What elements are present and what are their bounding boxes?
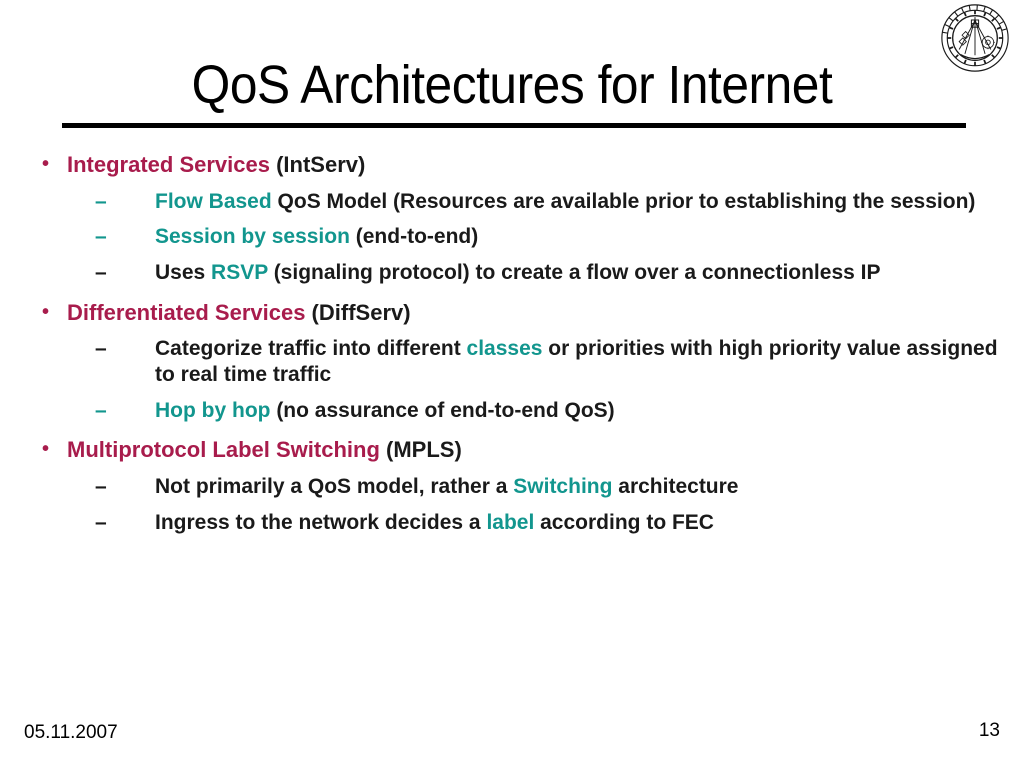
list-item: • Multiprotocol Label Switching (MPLS) — [0, 437, 1024, 464]
page-title: QoS Architectures for Internet — [41, 58, 983, 112]
highlight-text: RSVP — [211, 261, 268, 284]
highlight-text: Integrated Services — [67, 152, 270, 177]
highlight-text: Switching — [513, 475, 612, 498]
list-item: – Not primarily a QoS model, rather a Sw… — [0, 474, 1024, 500]
plain-text: (DiffServ) — [305, 300, 410, 325]
dash-marker-icon: – — [0, 398, 155, 423]
title-underline-rule — [62, 123, 966, 128]
highlight-text: Differentiated Services — [67, 300, 305, 325]
highlight-text: Session by session — [155, 225, 350, 248]
plain-text: (IntServ) — [270, 152, 365, 177]
title-block: QoS Architectures for Internet — [0, 58, 1024, 112]
list-item: – Hop by hop (no assurance of end-to-end… — [0, 398, 1024, 424]
dash-marker-icon: – — [0, 189, 155, 214]
highlight-text: Multiprotocol Label Switching — [67, 437, 380, 462]
plain-text: QoS Model (Resources are available prior… — [272, 190, 976, 213]
highlight-text: Hop by hop — [155, 399, 270, 422]
list-item: – Flow Based QoS Model (Resources are av… — [0, 189, 1024, 215]
list-item-text: Flow Based QoS Model (Resources are avai… — [155, 189, 1024, 215]
bullet-marker-icon: • — [0, 300, 67, 325]
list-item: – Uses RSVP (signaling protocol) to crea… — [0, 260, 1024, 286]
plain-text: according to FEC — [534, 511, 714, 534]
list-item: – Session by session (end-to-end) — [0, 224, 1024, 250]
list-item-text: Hop by hop (no assurance of end-to-end Q… — [155, 398, 1024, 424]
highlight-text: Flow Based — [155, 190, 272, 213]
footer-page-number: 13 — [979, 720, 1000, 742]
list-item: – Categorize traffic into different clas… — [0, 336, 1024, 387]
list-item-text: Ingress to the network decides a label a… — [155, 510, 1024, 536]
dash-marker-icon: – — [0, 336, 155, 361]
plain-text: (end-to-end) — [350, 225, 478, 248]
dash-marker-icon: – — [0, 474, 155, 499]
dash-marker-icon: – — [0, 510, 155, 535]
lead-text: Categorize traffic into different — [155, 337, 467, 360]
list-item-text: Multiprotocol Label Switching (MPLS) — [67, 437, 1024, 464]
slide-body: • Integrated Services (IntServ) – Flow B… — [0, 152, 1024, 540]
list-item: • Integrated Services (IntServ) — [0, 152, 1024, 179]
dash-marker-icon: – — [0, 224, 155, 249]
dash-marker-icon: – — [0, 260, 155, 285]
highlight-text: classes — [467, 337, 543, 360]
list-item-text: Not primarily a QoS model, rather a Swit… — [155, 474, 1024, 500]
list-item-text: Uses RSVP (signaling protocol) to create… — [155, 260, 1024, 286]
bullet-marker-icon: • — [0, 437, 67, 462]
highlight-text: label — [486, 511, 534, 534]
list-item-text: Categorize traffic into different classe… — [155, 336, 1024, 387]
bullet-marker-icon: • — [0, 152, 67, 177]
plain-text: (no assurance of end-to-end QoS) — [270, 399, 614, 422]
lead-text: Ingress to the network decides a — [155, 511, 486, 534]
plain-text: (MPLS) — [380, 437, 462, 462]
plain-text: architecture — [612, 475, 738, 498]
list-item: – Ingress to the network decides a label… — [0, 510, 1024, 536]
list-item-text: Integrated Services (IntServ) — [67, 152, 1024, 179]
footer-date: 05.11.2007 — [24, 722, 118, 744]
plain-text: (signaling protocol) to create a flow ov… — [268, 261, 881, 284]
lead-text: Not primarily a QoS model, rather a — [155, 475, 513, 498]
list-item-text: Differentiated Services (DiffServ) — [67, 300, 1024, 327]
list-item-text: Session by session (end-to-end) — [155, 224, 1024, 250]
list-item: • Differentiated Services (DiffServ) — [0, 300, 1024, 327]
lead-text: Uses — [155, 261, 211, 284]
